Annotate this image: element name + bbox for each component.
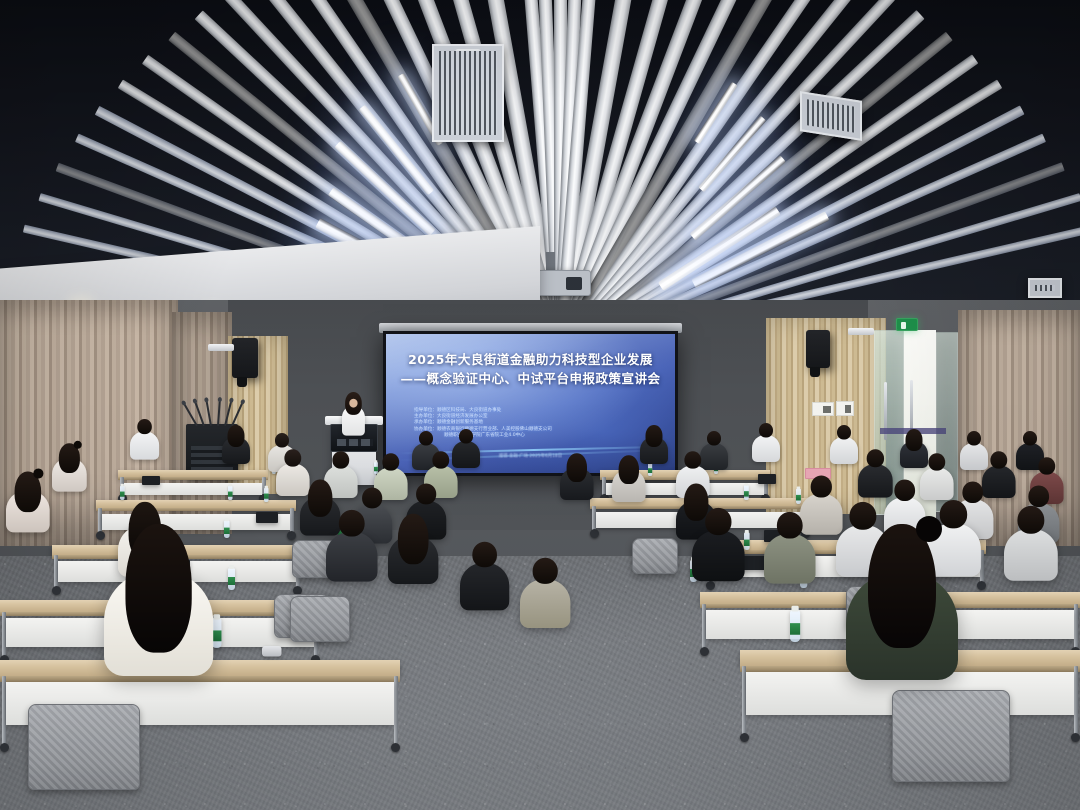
- bottle-label: [264, 494, 269, 499]
- person-head: [837, 425, 851, 440]
- person-hair-bun: [33, 468, 43, 478]
- person-head: [1028, 485, 1049, 506]
- wall-notice: [836, 401, 854, 416]
- bottle-cap: [375, 460, 378, 462]
- table-caster: [287, 531, 296, 540]
- water-bottle: [120, 486, 125, 500]
- person-torso: [460, 563, 509, 611]
- water-bottle: [264, 488, 269, 502]
- person-hair: [398, 514, 429, 564]
- bottle-cap: [213, 614, 220, 619]
- bottle-cap: [229, 565, 234, 569]
- person-head: [811, 476, 832, 498]
- person-torso: [752, 435, 780, 462]
- person-torso: [1004, 529, 1058, 581]
- person-head: [284, 449, 301, 466]
- speaker-right: [806, 330, 830, 368]
- person-head: [1038, 457, 1055, 474]
- person-torso: [452, 441, 480, 468]
- bottle-cap: [745, 483, 748, 486]
- bottle-label: [744, 491, 749, 496]
- bottle-label: [228, 577, 235, 585]
- bottle-cap: [225, 518, 229, 521]
- ac-diffuser-icon: [1028, 278, 1062, 298]
- person-head: [967, 431, 981, 446]
- smartphone: [262, 646, 282, 657]
- laptop: [142, 476, 160, 485]
- person-hair: [684, 483, 708, 520]
- person-head: [275, 433, 289, 448]
- person-torso: [326, 532, 378, 582]
- table-top: [118, 470, 268, 477]
- person-head: [707, 431, 721, 446]
- table-caster: [96, 531, 105, 540]
- person-head: [472, 542, 497, 568]
- person-head: [849, 502, 876, 530]
- person-head: [867, 449, 884, 467]
- bottle-label: [744, 540, 750, 546]
- slide-title: 2025年大良街道金融助力科技型企业发展 ——概念验证中心、中试平台申报政策宣讲…: [386, 350, 675, 388]
- person-torso: [920, 468, 954, 500]
- person-hair: [308, 479, 332, 516]
- water-bottle: [790, 610, 800, 642]
- bottle-label: [374, 467, 378, 471]
- person-head: [962, 481, 983, 502]
- bottle-label: [790, 623, 800, 635]
- bottle-label: [224, 528, 230, 534]
- bottle-label: [228, 492, 233, 497]
- person-head: [137, 419, 152, 434]
- chair: [290, 596, 350, 642]
- person-torso: [982, 466, 1016, 498]
- table-leg: [1074, 604, 1078, 650]
- person-head: [533, 558, 558, 584]
- table-edge: [118, 477, 268, 480]
- laptop: [758, 474, 776, 484]
- chair: [28, 704, 140, 790]
- person-torso: [960, 443, 988, 470]
- slide-body: 指导单位：顺德区科技局、大良街道办事处 主办单位：大良街道经济发展办公室 承办单…: [414, 408, 659, 439]
- table-caster: [1071, 733, 1080, 742]
- person-head: [416, 483, 436, 504]
- table-leg: [394, 676, 398, 746]
- person-hair: [125, 524, 191, 653]
- person-hair-bun: [74, 441, 82, 449]
- wall-notice: [812, 402, 834, 416]
- person-head: [777, 512, 803, 539]
- table-edge: [96, 508, 296, 511]
- bottle-cap: [121, 484, 124, 487]
- bottle-cap: [265, 486, 268, 489]
- conference-room-photo: 2025年大良街道金融助力科技型企业发展 ——概念验证中心、中试平台申报政策宣讲…: [0, 0, 1080, 810]
- person-head: [1023, 431, 1037, 446]
- water-bottle: [796, 489, 801, 504]
- table-caster: [391, 743, 400, 752]
- chair: [892, 690, 1010, 782]
- person-head: [339, 510, 365, 537]
- person-head: [928, 453, 945, 470]
- table-edge: [0, 676, 400, 682]
- bottle-label: [796, 495, 801, 501]
- slide-title-line2: ——概念验证中心、中试平台申报政策宣讲会: [386, 369, 675, 388]
- person-hair: [619, 455, 639, 484]
- bottle-label: [120, 492, 125, 497]
- person-torso: [520, 579, 570, 628]
- person-torso: [700, 443, 728, 470]
- water-bottle: [228, 486, 233, 500]
- ac-diffuser-icon: [432, 44, 504, 142]
- person-head: [382, 453, 399, 470]
- person-torso: [692, 530, 745, 581]
- water-bottle: [224, 520, 230, 538]
- bottle-cap: [791, 606, 798, 612]
- table-caster: [706, 581, 715, 590]
- person-head: [894, 479, 915, 500]
- bottle-cap: [229, 484, 232, 487]
- water-bottle: [212, 618, 221, 648]
- table-caster: [740, 733, 749, 742]
- person-hair: [646, 425, 663, 447]
- table: [118, 470, 268, 477]
- table-caster: [0, 743, 9, 752]
- person-torso: [276, 464, 310, 496]
- person-head: [684, 451, 701, 468]
- chair-back: [28, 704, 140, 790]
- chair-back: [632, 538, 678, 574]
- bottle-cap: [745, 530, 749, 533]
- speaker-left: [232, 338, 258, 378]
- person-head: [940, 500, 967, 528]
- person-hair: [868, 524, 936, 648]
- water-bottle: [228, 568, 235, 590]
- person-head: [419, 431, 433, 446]
- person-head: [1017, 506, 1044, 534]
- water-bottle: [744, 532, 750, 550]
- slide-body-line: 顺德职业技术学院广东省院工业4.0中心: [414, 433, 659, 439]
- table-leg: [1074, 666, 1078, 736]
- ceiling: [0, 0, 1080, 330]
- water-bottle: [744, 485, 749, 500]
- table-caster: [977, 581, 986, 590]
- person-head: [759, 423, 773, 438]
- person-hair: [567, 453, 587, 482]
- projector-mount: [546, 252, 555, 272]
- table-caster: [52, 586, 61, 595]
- slide-title-line1: 2025年大良街道金融助力科技型企业发展: [386, 350, 675, 369]
- person-head: [990, 451, 1007, 468]
- person-hair: [228, 425, 245, 447]
- person-hair-bun: [916, 516, 942, 542]
- laptop: [256, 512, 278, 523]
- person-torso: [764, 534, 816, 584]
- bottle-cap: [797, 487, 801, 490]
- person-hair: [906, 429, 923, 451]
- table-caster: [700, 647, 709, 656]
- exit-sign-icon: [896, 318, 918, 331]
- person-torso: [858, 464, 893, 497]
- bottle-label: [212, 630, 221, 641]
- person-torso: [830, 437, 858, 464]
- person-head: [332, 451, 349, 468]
- person-head: [705, 508, 731, 535]
- wall-light-left: [208, 344, 234, 351]
- person-head: [459, 429, 473, 444]
- presenter-face: [349, 399, 357, 408]
- chair-back: [290, 596, 350, 642]
- person-head: [362, 487, 382, 508]
- person-torso: [800, 494, 843, 535]
- person-head: [432, 451, 449, 468]
- chair-back: [892, 690, 1010, 782]
- bottle-label: [648, 468, 652, 473]
- table-caster: [590, 529, 599, 538]
- person-torso: [130, 432, 159, 460]
- chair: [632, 538, 678, 574]
- water-bottle: [648, 463, 652, 476]
- wall-light-right: [848, 328, 874, 335]
